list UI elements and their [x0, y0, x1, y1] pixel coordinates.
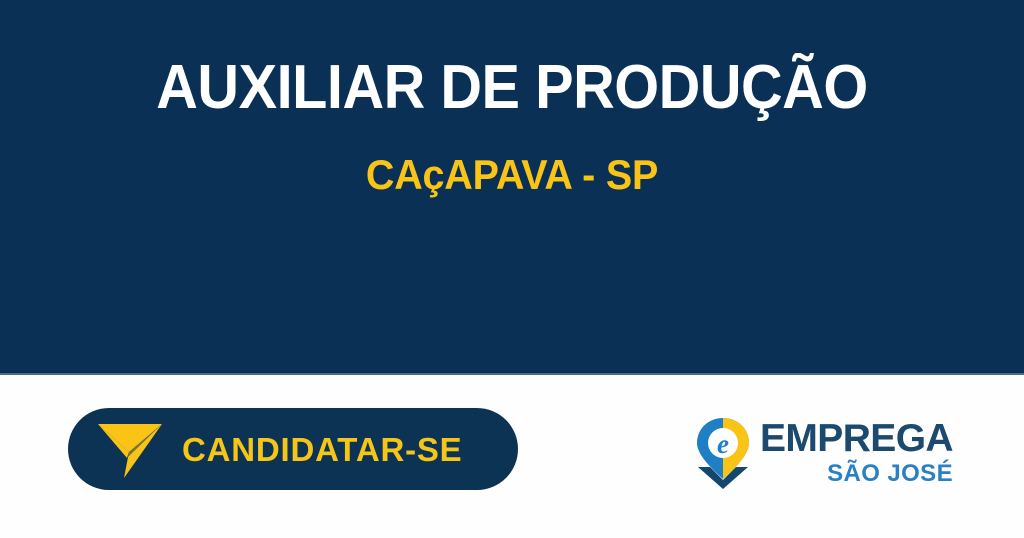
- brand-logo: e EMPREGA SÃO JOSÉ: [694, 417, 953, 495]
- brand-text-block: EMPREGA SÃO JOSÉ: [760, 417, 953, 486]
- brand-name: EMPREGA: [760, 419, 953, 458]
- map-pin-e-icon: e: [694, 417, 752, 489]
- apply-button-label: CANDIDATAR-SE: [182, 433, 463, 466]
- job-vacancy-banner: AUXILIAR DE PRODUÇÃO CAçAPAVA - SP CANDI…: [0, 0, 1024, 538]
- page-title: AUXILIAR DE PRODUÇÃO: [36, 56, 988, 119]
- brand-subtitle: SÃO JOSÉ: [760, 462, 953, 486]
- footer-bar: CANDIDATAR-SE e EMPREGA SÃO JOSÉ: [0, 377, 1024, 538]
- hero-banner: AUXILIAR DE PRODUÇÃO CAçAPAVA - SP: [0, 0, 1024, 375]
- svg-text:e: e: [717, 429, 729, 459]
- job-location-subtitle: CAçAPAVA - SP: [31, 119, 994, 197]
- hero-text-block: AUXILIAR DE PRODUÇÃO CAçAPAVA - SP: [0, 0, 1024, 197]
- apply-button[interactable]: CANDIDATAR-SE: [68, 408, 518, 490]
- send-plane-icon: [96, 418, 164, 480]
